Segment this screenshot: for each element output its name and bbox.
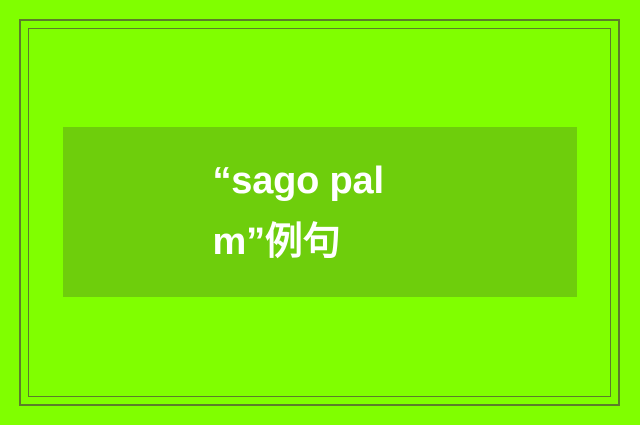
- poster-canvas: “sago palm”例句: [0, 0, 640, 425]
- title-panel: “sago palm”例句: [63, 127, 577, 297]
- page-title: “sago palm”例句: [213, 151, 428, 273]
